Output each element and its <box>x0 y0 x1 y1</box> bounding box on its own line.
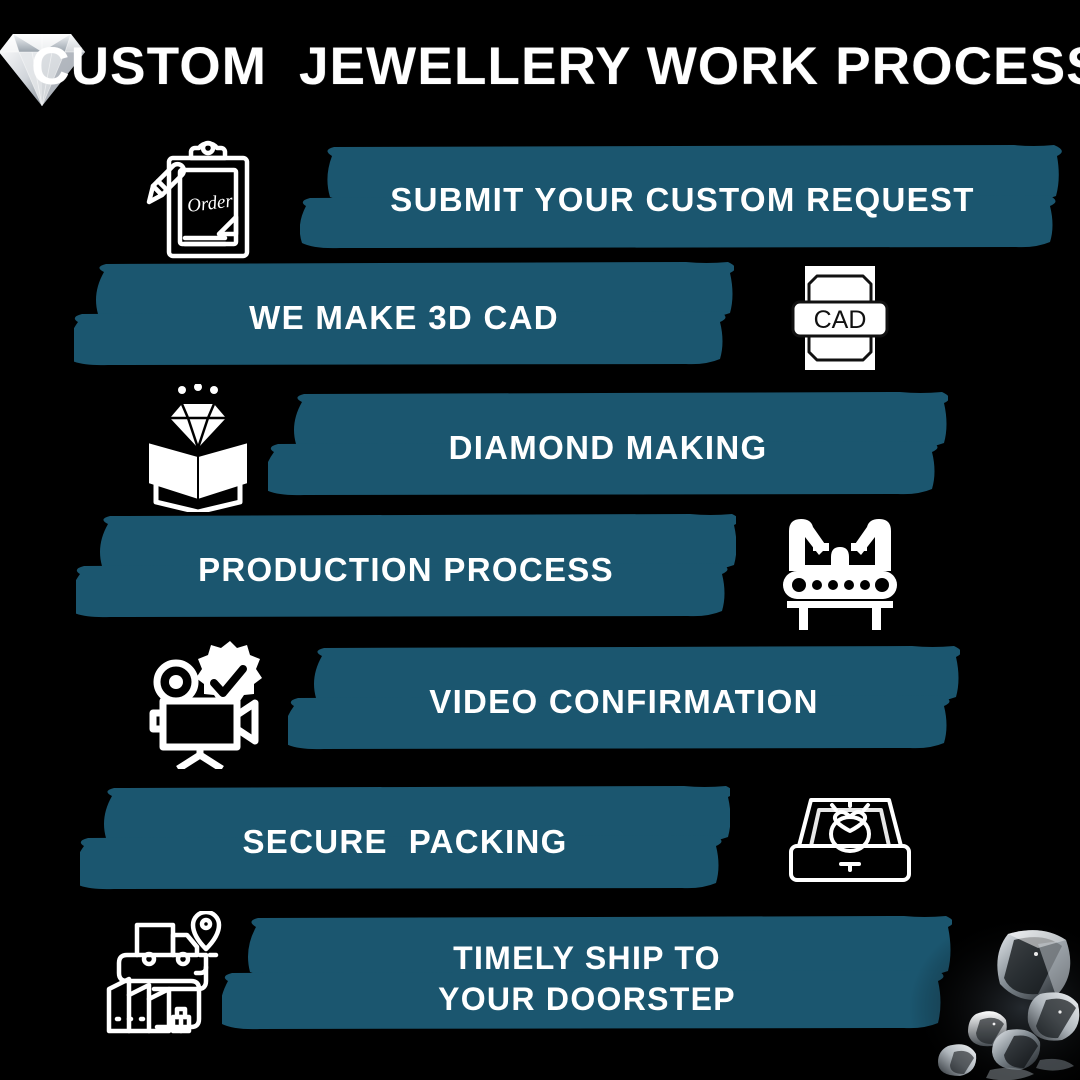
clipboard-order-icon: Order! <box>133 138 263 263</box>
step-5-label-line-1: VIDEO CONFIRMATION <box>429 684 818 720</box>
step-6-label-line-1: SECURE PACKING <box>242 824 567 860</box>
step-4-label: PRODUCTION PROCESS <box>76 514 736 626</box>
ring-box-icon <box>783 786 917 898</box>
process-step-4: PRODUCTION PROCESS <box>0 500 1080 640</box>
step-3-label-line-1: DIAMOND MAKING <box>449 430 768 466</box>
clipboard-order-text: Order! <box>186 189 240 216</box>
step-5-banner[interactable]: VIDEO CONFIRMATION <box>288 646 960 758</box>
process-step-6: SECURE PACKING <box>0 772 1080 912</box>
diamond-box-icon <box>132 384 264 512</box>
step-4-label-line-1: PRODUCTION PROCESS <box>198 552 614 588</box>
step-2-icon-slot: CAD <box>760 248 920 388</box>
cad-printer-icon: CAD <box>785 262 895 374</box>
header: CUSTOM JEWELLERY WORK PROCESS <box>0 24 1080 110</box>
step-6-banner[interactable]: SECURE PACKING <box>80 786 730 898</box>
step-1-banner[interactable]: SUBMIT YOUR CUSTOM REQUEST <box>300 144 1065 256</box>
step-5-label: VIDEO CONFIRMATION <box>288 646 960 758</box>
step-7-banner[interactable]: TIMELY SHIP TO YOUR DOORSTEP <box>222 915 952 1043</box>
process-step-5: VIDEO CONFIRMATION <box>0 632 1080 772</box>
step-2-label-line-1: WE MAKE 3D CAD <box>249 300 559 336</box>
step-3-label: DIAMOND MAKING <box>268 392 948 504</box>
step-3-icon-slot <box>118 378 278 518</box>
page-title: CUSTOM JEWELLERY WORK PROCESS <box>0 24 1080 110</box>
step-6-label: SECURE PACKING <box>80 786 730 898</box>
cad-printer-text: CAD <box>814 306 867 334</box>
step-7-label-line-1: TIMELY SHIP TO <box>453 938 721 979</box>
step-7-label: TIMELY SHIP TO YOUR DOORSTEP <box>222 915 952 1043</box>
process-step-3: DIAMOND MAKING <box>0 378 1080 518</box>
step-4-icon-slot <box>760 500 920 640</box>
step-5-icon-slot <box>130 632 290 772</box>
video-camera-check-icon <box>146 635 274 769</box>
infographic-poster: CUSTOM JEWELLERY WORK PROCESS <box>0 0 1080 1080</box>
step-4-banner[interactable]: PRODUCTION PROCESS <box>76 514 736 626</box>
process-step-7: TIMELY SHIP TO YOUR DOORSTEP <box>0 905 1080 1045</box>
step-1-label: SUBMIT YOUR CUSTOM REQUEST <box>300 144 1065 256</box>
step-6-icon-slot <box>770 772 930 912</box>
step-3-banner[interactable]: DIAMOND MAKING <box>268 392 948 504</box>
factory-truck-delivery-icon <box>99 911 237 1039</box>
step-1-label-line-1: SUBMIT YOUR CUSTOM REQUEST <box>390 182 974 218</box>
step-7-label-line-2: YOUR DOORSTEP <box>438 979 736 1020</box>
conveyor-robot-icon <box>775 509 905 631</box>
step-2-banner[interactable]: WE MAKE 3D CAD <box>74 262 734 374</box>
step-2-label: WE MAKE 3D CAD <box>74 262 734 374</box>
process-step-2: CAD WE MAKE 3D CAD <box>0 248 1080 388</box>
